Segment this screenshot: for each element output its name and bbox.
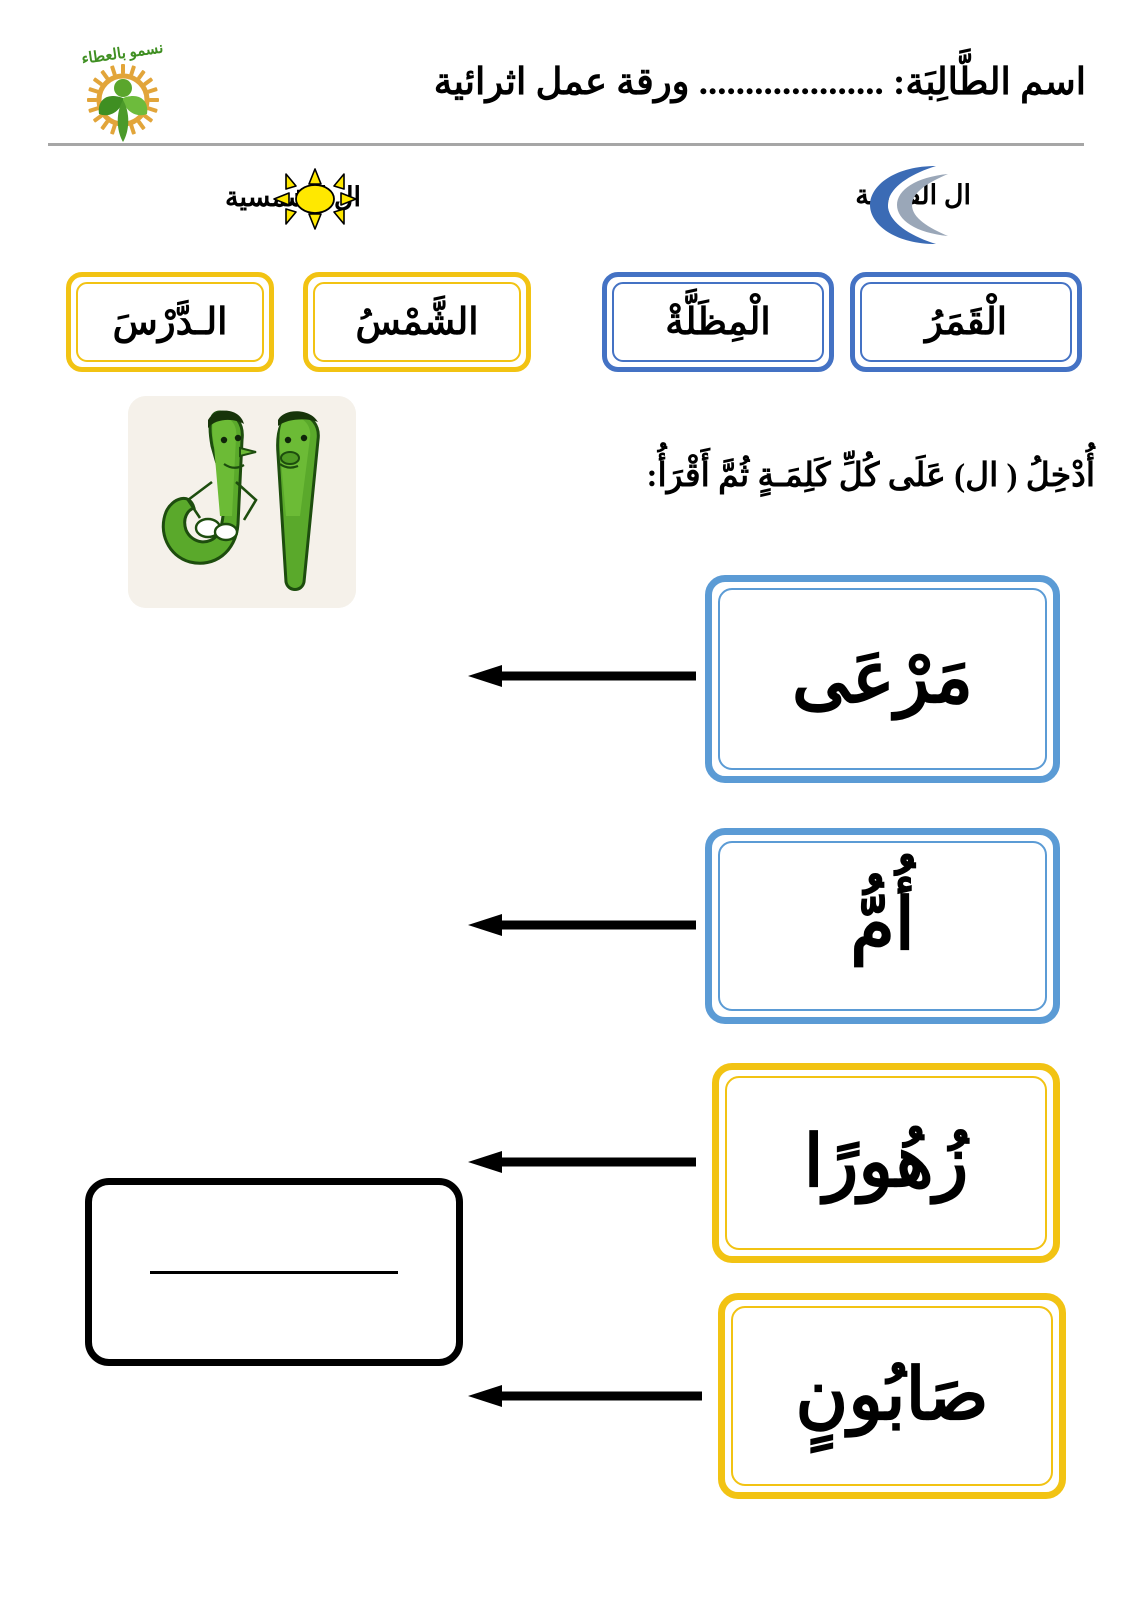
chip-label: الْقَمَرُ	[925, 300, 1007, 344]
word-label: أُمُّ	[850, 888, 915, 964]
instruction-text: أُدْخِلُ ( ال) عَلَى كُلِّ كَلِمَـةٍ ثُم…	[425, 455, 1095, 495]
arrow-left-icon	[468, 914, 696, 936]
school-logo: نسمو بالعطاء	[63, 38, 183, 148]
chip-label: الْمِظَلَّةْ	[665, 300, 770, 344]
arrow-left-icon	[468, 1151, 696, 1173]
word-card-inner: زُهُورًا	[725, 1076, 1047, 1250]
example-chip-dars: الـدَّرْسَ	[66, 272, 274, 372]
page-header: نسمو بالعطاء اسم الطَّالِبَة: ..........…	[0, 0, 1131, 145]
word-card: أُمُّ	[705, 828, 1060, 1024]
arrow-left-icon	[468, 1385, 702, 1407]
legend-row: ال القمرية ال الشمسية	[0, 160, 1131, 240]
header-divider	[48, 143, 1084, 146]
word-card: صَابُونٍ	[718, 1293, 1066, 1499]
example-chip-mizalla: الْمِظَلَّةْ	[602, 272, 834, 372]
chip-inner: الْقَمَرُ	[860, 282, 1072, 362]
exercise-row: صَابُونٍ	[0, 1293, 1131, 1511]
page-title: اسم الطَّالِبَة: .................... ور…	[226, 60, 1086, 104]
sun-icon	[272, 168, 358, 230]
word-card: مَرْعَى	[705, 575, 1060, 783]
word-card-inner: أُمُّ	[718, 841, 1047, 1011]
chip-inner: الـدَّرْسَ	[76, 282, 264, 362]
svg-text:نسمو بالعطاء: نسمو بالعطاء	[81, 40, 165, 67]
example-chip-row: الْقَمَرُ الْمِظَلَّةْ الشَّمْسُ الـدَّر…	[0, 272, 1131, 380]
word-label: مَرْعَى	[792, 641, 973, 717]
exercise-row: مَرْعَى	[0, 575, 1131, 790]
example-chip-shams: الشَّمْسُ	[303, 272, 531, 372]
exercise-row: أُمُّ	[0, 828, 1131, 1028]
word-card-inner: مَرْعَى	[718, 588, 1047, 770]
chip-label: الـدَّرْسَ	[113, 300, 228, 344]
word-label: صَابُونٍ	[795, 1358, 988, 1434]
chip-inner: الشَّمْسُ	[313, 282, 521, 362]
example-chip-qamar: الْقَمَرُ	[850, 272, 1082, 372]
word-label: زُهُورًا	[804, 1125, 969, 1201]
exercise-row: زُهُورًا	[0, 1063, 1131, 1275]
word-card: زُهُورًا	[712, 1063, 1060, 1263]
arrow-left-icon	[468, 665, 696, 687]
crescent-moon-icon	[866, 160, 952, 250]
word-card-inner: صَابُونٍ	[731, 1306, 1053, 1486]
chip-inner: الْمِظَلَّةْ	[612, 282, 824, 362]
worksheet-page: نسمو بالعطاء اسم الطَّالِبَة: ..........…	[0, 0, 1131, 1600]
chip-label: الشَّمْسُ	[355, 300, 478, 344]
